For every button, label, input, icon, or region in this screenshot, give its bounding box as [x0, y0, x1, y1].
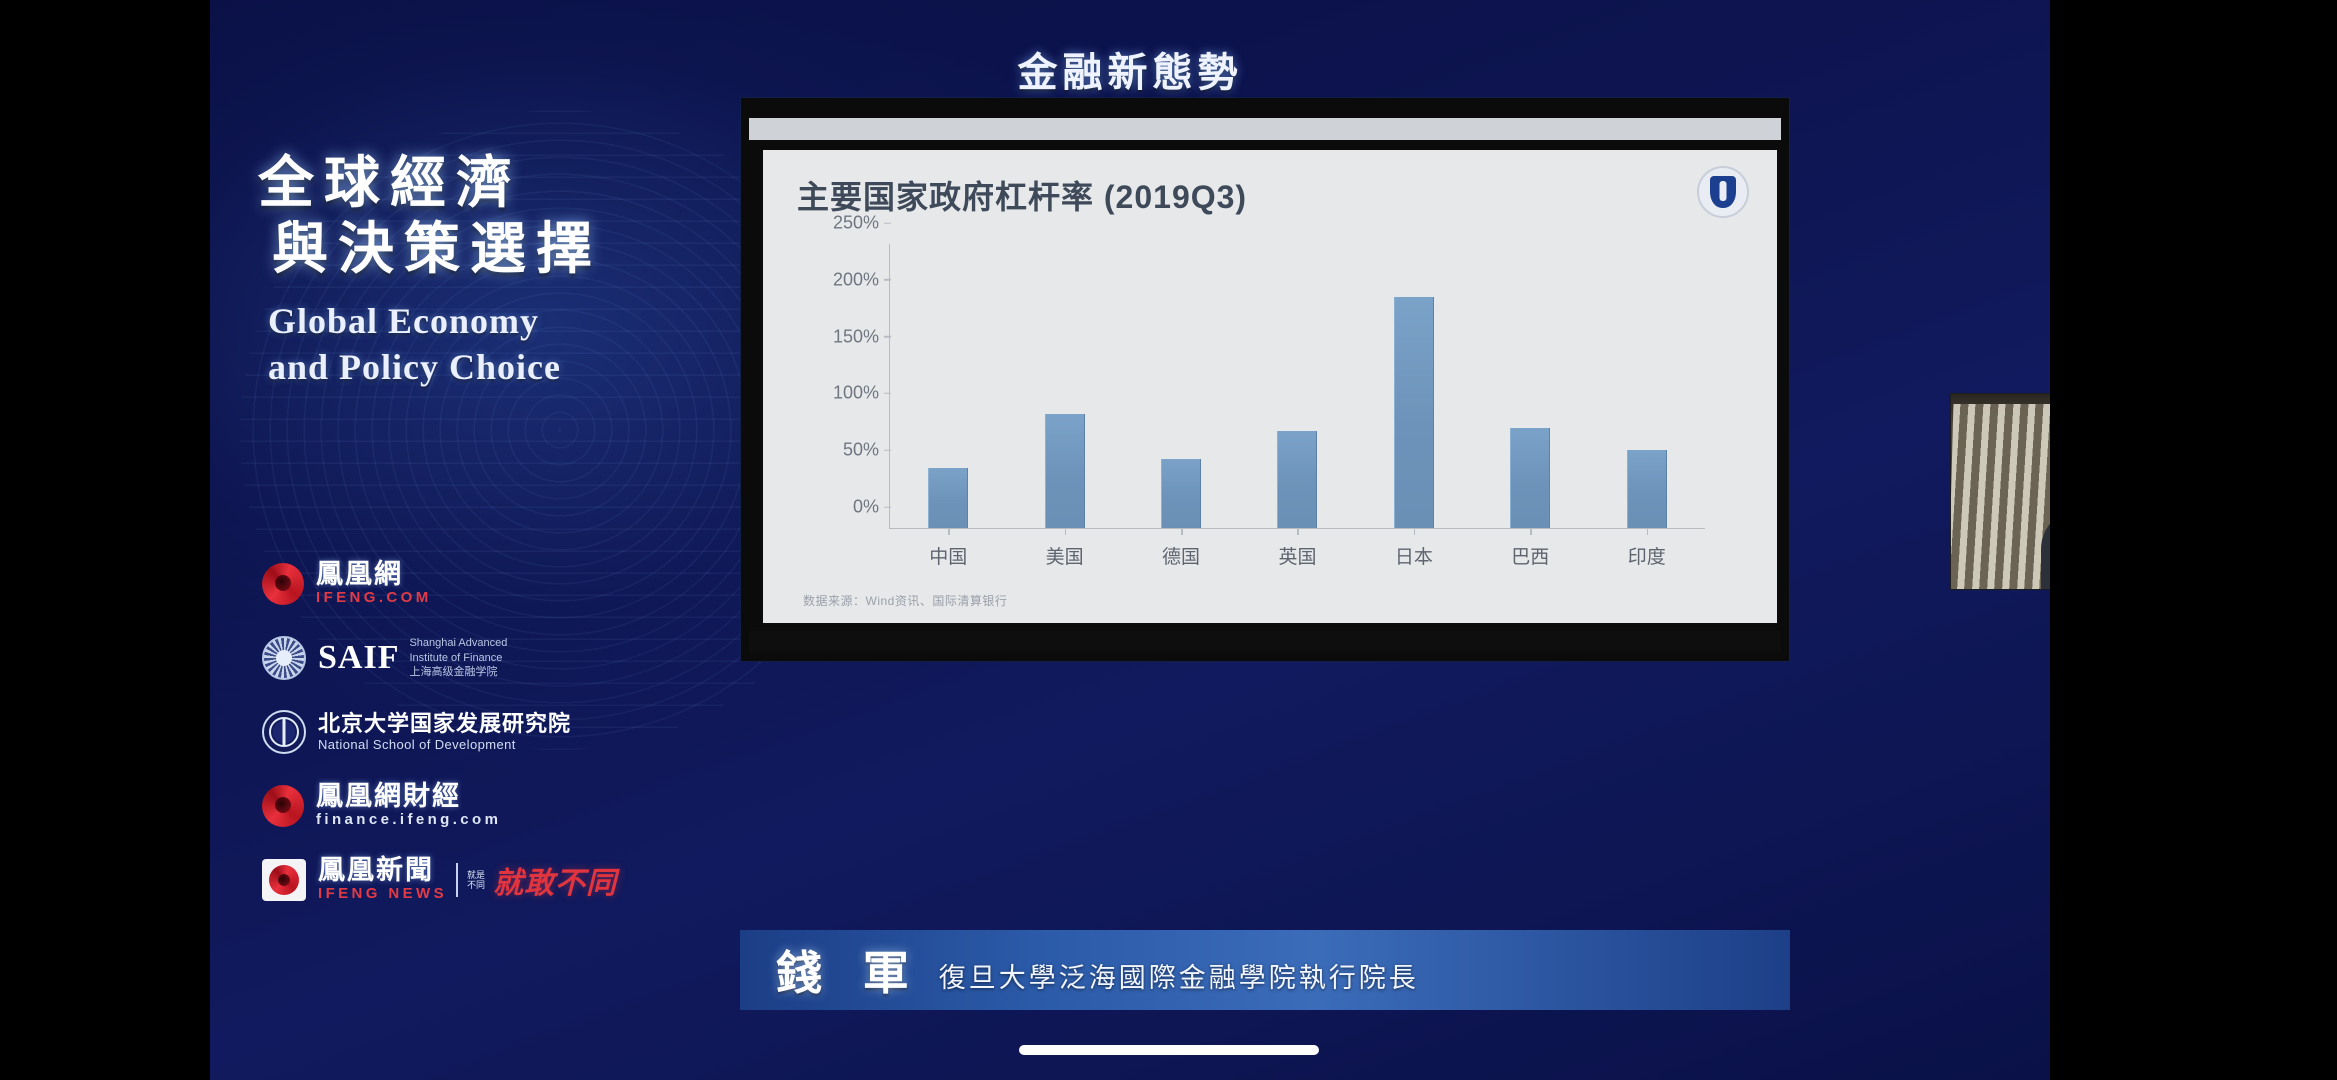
logo-saif: SAIF Shanghai Advanced Institute of Fina…: [262, 629, 692, 687]
logo-ifeng-news: 鳳凰新聞 IFENG NEWS 就是 不同 就敢不同: [262, 851, 692, 909]
logo-saif-sub-line2: Institute of Finance: [409, 651, 507, 666]
bar-slot: 德国: [1123, 244, 1239, 528]
logo-ifeng-news-vertical-text: 就是 不同: [467, 870, 485, 890]
saif-gear-icon: [262, 636, 306, 680]
crest-shield-shape: [1710, 176, 1736, 208]
phoenix-swirl-icon: [262, 563, 304, 605]
chart-bar[interactable]: [1627, 450, 1667, 528]
window-blinds: [1950, 404, 2050, 589]
logo-finance-ifeng-cn: 鳳凰網財經: [316, 782, 501, 811]
lower-third-name-banner: 錢 軍 復旦大學泛海國際金融學院執行院長: [740, 930, 1790, 1010]
chart-bar[interactable]: [1161, 459, 1201, 528]
logo-saif-subtext: Shanghai Advanced Institute of Finance 上…: [409, 636, 507, 681]
y-axis-tick: 200%: [833, 269, 890, 290]
x-axis-tick-label: 德国: [1162, 542, 1200, 569]
chart-bar[interactable]: [1510, 428, 1550, 528]
bar-slot: 中国: [890, 244, 1006, 528]
chart-bar[interactable]: [1277, 431, 1317, 528]
brand-title-en-line1: Global Economy: [268, 298, 688, 344]
bar-chart: 0%50%100%150%200%250% 中国美国德国英国日本巴西印度: [803, 238, 1731, 569]
program-headline: 金融新態勢: [210, 40, 2050, 98]
x-axis-tick-label: 日本: [1395, 542, 1433, 569]
chart-bar[interactable]: [1045, 414, 1085, 528]
logo-ifeng-com: 鳳凰網 IFENG.COM: [262, 555, 692, 613]
logo-pku-nsd-cn: 北京大学国家发展研究院: [318, 712, 571, 736]
logo-ifeng-com-cn: 鳳凰網: [316, 560, 432, 589]
logo-ifeng-news-slogan: 就敢不同: [493, 858, 617, 902]
slide-bottom-edge: [749, 631, 1781, 653]
y-axis-tick: 150%: [833, 326, 890, 347]
speaker-name: 錢 軍: [776, 937, 923, 1003]
program-branding: 全球經濟 與決策選擇 Global Economy and Policy Cho…: [258, 150, 688, 390]
y-axis-tick: 0%: [853, 497, 890, 518]
logo-ifeng-com-en: IFENG.COM: [316, 588, 432, 608]
fudan-crest-icon: [1697, 166, 1749, 218]
logo-ifeng-news-vert-line2: 不同: [467, 880, 485, 890]
logo-ifeng-news-vert-line1: 就是: [467, 870, 485, 880]
logo-pku-nsd: 北京大学国家发展研究院 National School of Developme…: [262, 703, 692, 761]
chart-plot-area: 0%50%100%150%200%250% 中国美国德国英国日本巴西印度: [889, 244, 1705, 529]
sponsor-logo-list: 鳳凰網 IFENG.COM SAIF Shanghai Advanced Ins…: [262, 555, 692, 925]
x-axis-tick-label: 印度: [1628, 542, 1666, 569]
logo-ifeng-news-cn: 鳳凰新聞: [318, 856, 447, 885]
logo-saif-sub-line3: 上海高级金融学院: [409, 665, 507, 680]
presentation-slide-panel: 主要国家政府杠杆率 (2019Q3) 0%50%100%150%200%250%…: [740, 97, 1790, 662]
x-axis-tick-label: 巴西: [1511, 542, 1549, 569]
x-axis-tick-label: 中国: [929, 542, 967, 569]
bar-slot: 美国: [1006, 244, 1122, 528]
y-axis-tick: 100%: [833, 383, 890, 404]
logo-pku-nsd-en: National School of Development: [318, 737, 571, 752]
speaker-webcam-feed[interactable]: [1950, 393, 2050, 590]
letterbox-left: [0, 0, 210, 1080]
slide-title: 主要国家政府杠杆率 (2019Q3): [797, 172, 1247, 218]
letterbox-right: [2050, 0, 2337, 1080]
logo-ifeng-news-en: IFENG NEWS: [318, 884, 447, 904]
phoenix-swirl-icon: [269, 865, 299, 895]
phoenix-swirl-icon: [262, 785, 304, 827]
bar-slot: 印度: [1589, 244, 1705, 528]
webcam-background: [1951, 394, 2050, 589]
bar-slot: 英国: [1239, 244, 1355, 528]
slide-canvas: 主要国家政府杠杆率 (2019Q3) 0%50%100%150%200%250%…: [763, 150, 1777, 623]
brand-title-en-line2: and Policy Choice: [268, 344, 688, 390]
bar-slot: 巴西: [1472, 244, 1588, 528]
logo-finance-ifeng-en: finance.ifeng.com: [316, 810, 501, 830]
phoenix-badge-icon: [262, 859, 306, 901]
brand-title-cn-line2: 與決策選擇: [272, 216, 688, 282]
x-axis-tick-label: 美国: [1046, 542, 1084, 569]
logo-saif-sub-line1: Shanghai Advanced: [409, 636, 507, 651]
slide-top-edge: [749, 118, 1781, 140]
pku-seal-icon: [262, 710, 306, 754]
y-axis-tick: 50%: [843, 440, 890, 461]
chart-bars: 中国美国德国英国日本巴西印度: [890, 244, 1705, 528]
logo-divider: [456, 863, 458, 897]
logo-finance-ifeng: 鳳凰網財經 finance.ifeng.com: [262, 777, 692, 835]
brand-title-cn-line1: 全球經濟: [258, 150, 688, 216]
chart-bar[interactable]: [1394, 297, 1434, 528]
bar-slot: 日本: [1356, 244, 1472, 528]
y-axis-tick: 250%: [833, 213, 890, 234]
broadcast-video: 金融新態勢 全球經濟 與決策選擇 Global Economy and Poli…: [210, 0, 2050, 1080]
x-axis-tick-label: 英国: [1278, 542, 1316, 569]
chart-source-note: 数据来源：Wind资讯、国际清算银行: [803, 592, 1007, 609]
speaker-title: 復旦大學泛海國際金融學院執行院長: [939, 956, 1419, 995]
logo-saif-word: SAIF: [318, 639, 399, 677]
screen: 金融新態勢 全球經濟 與決策選擇 Global Economy and Poli…: [0, 0, 2337, 1080]
home-indicator[interactable]: [1019, 1045, 1319, 1055]
chart-bar[interactable]: [928, 468, 968, 528]
